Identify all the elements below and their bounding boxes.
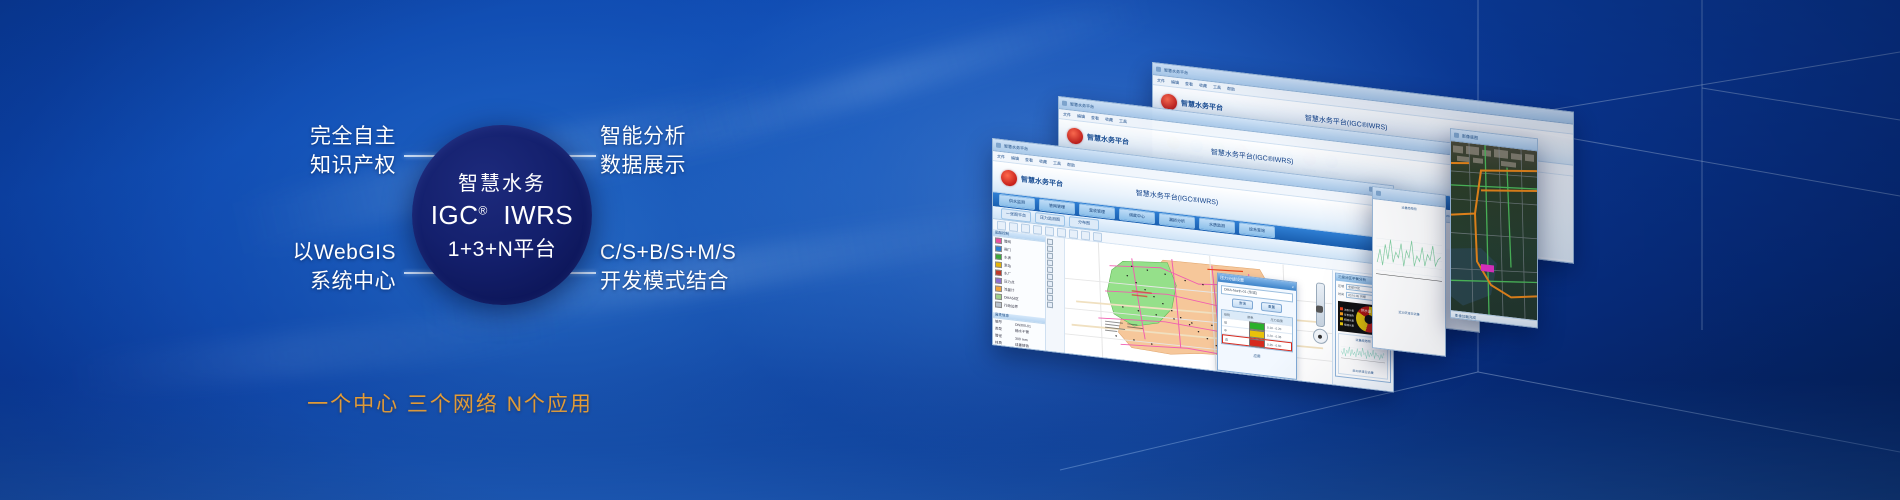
- chart-axis-label: 近30天逐日流量: [1376, 307, 1442, 319]
- feature-bottom-right-line2: 开发模式结合: [600, 267, 830, 296]
- attribute-value: 2015: [1015, 371, 1023, 376]
- menu-item-favorites[interactable]: 收藏: [1039, 158, 1047, 165]
- layer-swatch: [995, 301, 1002, 308]
- attribute-value: 1.80 m: [1015, 350, 1026, 355]
- circle-brand-suffix: IWRS: [503, 200, 573, 230]
- menu-item-file[interactable]: 文件: [1157, 77, 1165, 84]
- window-icon: [1376, 190, 1381, 196]
- attribute-key: 状态: [995, 361, 1013, 368]
- dialog-close-icon[interactable]: ×: [1292, 284, 1294, 289]
- date-label: 时间: [1338, 292, 1344, 297]
- menu-item-view[interactable]: 查看: [1025, 156, 1033, 163]
- circle-line2: IGC® IWRS: [431, 200, 573, 231]
- pan-icon[interactable]: [1057, 227, 1066, 237]
- map-tool-column[interactable]: [1046, 236, 1065, 357]
- dialog-reset-button[interactable]: 重置: [1261, 302, 1282, 313]
- legend-item: 暗漏水量: [1340, 322, 1354, 328]
- filter-label: 区域: [1338, 284, 1344, 289]
- hero-tagline: 一个中心 三个网络 N个应用: [0, 388, 900, 418]
- brand-name: 智慧水务平台: [1021, 174, 1063, 189]
- attribute-value: 300 mm: [1015, 336, 1028, 341]
- attribute-value: 0.32 MPa: [1015, 357, 1030, 363]
- pressure-grade-dialog[interactable]: 压力分级设置 × DMA-North-01 (东城) 查询 重置 级: [1217, 273, 1297, 380]
- menu-item-help[interactable]: 帮助: [1067, 161, 1075, 168]
- pressure-grade-table: 级别 颜色 压力范围 低 0.10 - 0.20: [1221, 309, 1293, 352]
- cell-level: 高: [1223, 337, 1249, 344]
- circle-line3: 1+3+N平台: [448, 233, 557, 263]
- layer-swatch: [995, 245, 1002, 252]
- feature-bottom-left-line2: 系统中心: [220, 267, 396, 296]
- feature-bottom-left-line1: 以WebGIS: [220, 238, 396, 267]
- attribute-key: 材质: [995, 340, 1013, 347]
- zoom-out-icon[interactable]: [1045, 226, 1054, 236]
- satellite-map-window[interactable]: 影像底图: [1450, 128, 1538, 328]
- chart-window[interactable]: 流量趋势图 近30天逐日流量: [1372, 186, 1446, 357]
- layer-label[interactable]: 管网: [1004, 239, 1011, 245]
- browser-tab-label: 智慧水务平台: [1004, 143, 1028, 152]
- app-title: 智慧水务平台(IGC®IWRS): [1211, 147, 1294, 167]
- layer-swatch: [995, 269, 1002, 276]
- status-left: 就绪: [997, 352, 1004, 358]
- layer-label[interactable]: 行政边界: [1004, 303, 1018, 310]
- layer-swatch: [995, 237, 1002, 244]
- window-icon: [1062, 100, 1067, 106]
- layer-label[interactable]: 泵站: [1004, 263, 1011, 269]
- feature-bottom-right: C/S+B/S+M/S 开发模式结合: [600, 238, 830, 296]
- col-range: 压力范围: [1269, 317, 1292, 324]
- dialog-apply-button[interactable]: 应用: [1221, 350, 1293, 363]
- attribute-key: 建设年份: [995, 368, 1013, 375]
- satellite-imagery[interactable]: [1451, 141, 1537, 320]
- layer-label[interactable]: 水厂: [1004, 271, 1011, 277]
- layer-swatch: [995, 277, 1002, 284]
- feature-top-left-line2: 知识产权: [236, 151, 396, 180]
- menu-item-view[interactable]: 查看: [1091, 114, 1099, 121]
- promo-banner: 完全自主 知识产权 智能分析 数据展示 以WebGIS 系统中心 C/S+B/S…: [0, 0, 1900, 500]
- layer-label[interactable]: 压力点: [1004, 279, 1015, 285]
- feature-top-left: 完全自主 知识产权: [236, 122, 396, 180]
- attribute-row: 压力0.32 MPa: [993, 353, 1045, 366]
- attribute-key: 埋深: [995, 347, 1013, 354]
- feature-top-right-line2: 数据展示: [600, 151, 800, 180]
- map-zoom-controls[interactable]: [1312, 282, 1328, 345]
- cell-range: 0.35 - 0.60: [1265, 342, 1291, 349]
- menu-item-help[interactable]: 帮助: [1227, 85, 1235, 92]
- menu-item-file[interactable]: 文件: [997, 153, 1005, 160]
- circle-line1: 智慧水务: [458, 167, 546, 196]
- browser-tab-label: 智慧水务平台: [1070, 101, 1094, 110]
- satellite-title: 影像底图: [1462, 133, 1478, 141]
- chart-axis-label: 近30天逐日流量: [1341, 367, 1385, 376]
- circle-brand: IGC: [431, 200, 479, 230]
- menu-item-tools[interactable]: 工具: [1119, 118, 1127, 125]
- menu-item-file[interactable]: 文件: [1063, 111, 1071, 118]
- zoom-slider-thumb[interactable]: [1316, 305, 1323, 313]
- dialog-body: DMA-North-01 (东城) 查询 重置 级别 颜色 压力范围: [1218, 282, 1296, 367]
- layer-label[interactable]: 水表: [1004, 255, 1011, 261]
- feature-bottom-right-line1: C/S+B/S+M/S: [600, 238, 830, 267]
- menu-item-view[interactable]: 查看: [1185, 80, 1193, 87]
- hero-circle: 智慧水务 IGC® IWRS 1+3+N平台: [412, 125, 592, 305]
- layer-attribute-sidebar[interactable]: 图层控制 管网 阀门 水表 泵站 水厂 压力点 流量计 DMA分区 行政边界 属…: [993, 230, 1046, 355]
- window-icon: [1156, 66, 1161, 72]
- query-icon[interactable]: [1093, 231, 1102, 241]
- company-logo-icon: [1001, 169, 1017, 187]
- feature-bottom-left: 以WebGIS 系统中心: [220, 238, 396, 296]
- attribute-row: 状态正常运行: [993, 360, 1045, 373]
- layer-label[interactable]: 流量计: [1004, 287, 1015, 293]
- company-logo-icon: [1067, 127, 1083, 145]
- attribute-row: 建设年份2015: [993, 367, 1045, 380]
- pan-pad-icon[interactable]: [1313, 328, 1328, 345]
- feature-top-right: 智能分析 数据展示: [600, 122, 800, 180]
- registered-icon: ®: [479, 203, 488, 217]
- attribute-value: 正常运行: [1015, 364, 1029, 371]
- browser-tab-label: 智慧水务平台: [1164, 67, 1188, 76]
- select-icon[interactable]: [1069, 229, 1078, 239]
- col-level: 级别: [1222, 312, 1245, 319]
- attribute-key: 压力: [995, 354, 1013, 361]
- open-icon[interactable]: [997, 220, 1006, 230]
- menu-item-tools[interactable]: 工具: [1053, 160, 1061, 167]
- window-icon: [996, 142, 1001, 148]
- window-icon: [1454, 132, 1459, 138]
- light-streak: [59, 303, 581, 401]
- measure-icon[interactable]: [1081, 230, 1090, 240]
- dialog-query-button[interactable]: 查询: [1232, 298, 1253, 309]
- layer-label[interactable]: DMA分区: [1004, 295, 1019, 302]
- color-chip-high[interactable]: [1249, 338, 1265, 348]
- menu-item-edit[interactable]: 编辑: [1077, 113, 1085, 120]
- menu-item-favorites[interactable]: 收藏: [1105, 116, 1113, 123]
- print-icon[interactable]: [1021, 223, 1030, 233]
- attribute-value: 球墨铸铁: [1015, 343, 1029, 350]
- zoom-slider[interactable]: [1316, 282, 1325, 327]
- menu-item-edit[interactable]: 编辑: [1171, 79, 1179, 86]
- app-title: 智慧水务平台(IGC®IWRS): [1136, 188, 1219, 208]
- feature-top-left-line1: 完全自主: [236, 122, 396, 151]
- layer-swatch: [995, 253, 1002, 260]
- feature-top-right-line1: 智能分析: [600, 122, 800, 151]
- zoom-in-icon[interactable]: [1033, 224, 1042, 234]
- layer-swatch: [995, 261, 1002, 268]
- tool-export-icon[interactable]: [1047, 301, 1063, 309]
- donut-legend: 注册计量 背景漏失 明漏水量 暗漏水量: [1340, 307, 1354, 328]
- layer-label[interactable]: 阀门: [1004, 247, 1011, 253]
- pressure-trend-chart: [1376, 206, 1442, 310]
- layer-swatch: [995, 293, 1002, 300]
- save-icon[interactable]: [1009, 222, 1018, 232]
- layer-swatch: [995, 285, 1002, 292]
- menu-item-edit[interactable]: 编辑: [1011, 155, 1019, 162]
- brand-name: 智慧水务平台: [1087, 132, 1129, 147]
- menu-item-tools[interactable]: 工具: [1213, 84, 1221, 91]
- menu-item-favorites[interactable]: 收藏: [1199, 82, 1207, 89]
